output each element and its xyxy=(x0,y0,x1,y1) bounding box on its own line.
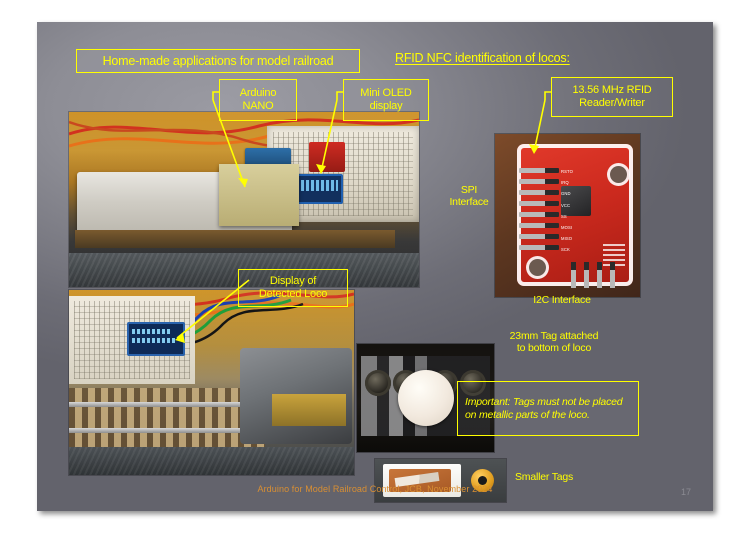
callout-rfid-reader-text: 13.56 MHz RFID Reader/Writer xyxy=(572,84,651,109)
callout-display-detected-loco: Display of Detected Loco xyxy=(238,269,348,307)
callout-mini-oled-text: Mini OLED display xyxy=(360,87,411,112)
callout-important-note: Important: Tags must not be placed on me… xyxy=(457,381,639,436)
callout-rfid-reader: 13.56 MHz RFID Reader/Writer xyxy=(551,77,673,117)
callout-arduino-nano: Arduino NANO xyxy=(219,79,297,121)
slide-page-number: 17 xyxy=(681,487,691,497)
callout-mini-oled: Mini OLED display xyxy=(343,79,429,121)
slide-canvas: Home-made applications for model railroa… xyxy=(37,22,713,511)
label-23mm-tag: 23mm Tag attached to bottom of loco xyxy=(459,330,649,354)
label-smaller-tags: Smaller Tags xyxy=(515,471,635,483)
callout-display-detected-loco-text: Display of Detected Loco xyxy=(259,275,327,300)
callout-important-note-text: Important: Tags must not be placed on me… xyxy=(465,396,631,422)
label-spi-interface: SPI Interface xyxy=(441,184,497,208)
slide-footer: Arduino for Model Railroad Control, JCB,… xyxy=(37,484,713,494)
label-i2c-interface: I2C Interface xyxy=(507,294,617,306)
callout-arduino-nano-text: Arduino NANO xyxy=(240,87,277,112)
